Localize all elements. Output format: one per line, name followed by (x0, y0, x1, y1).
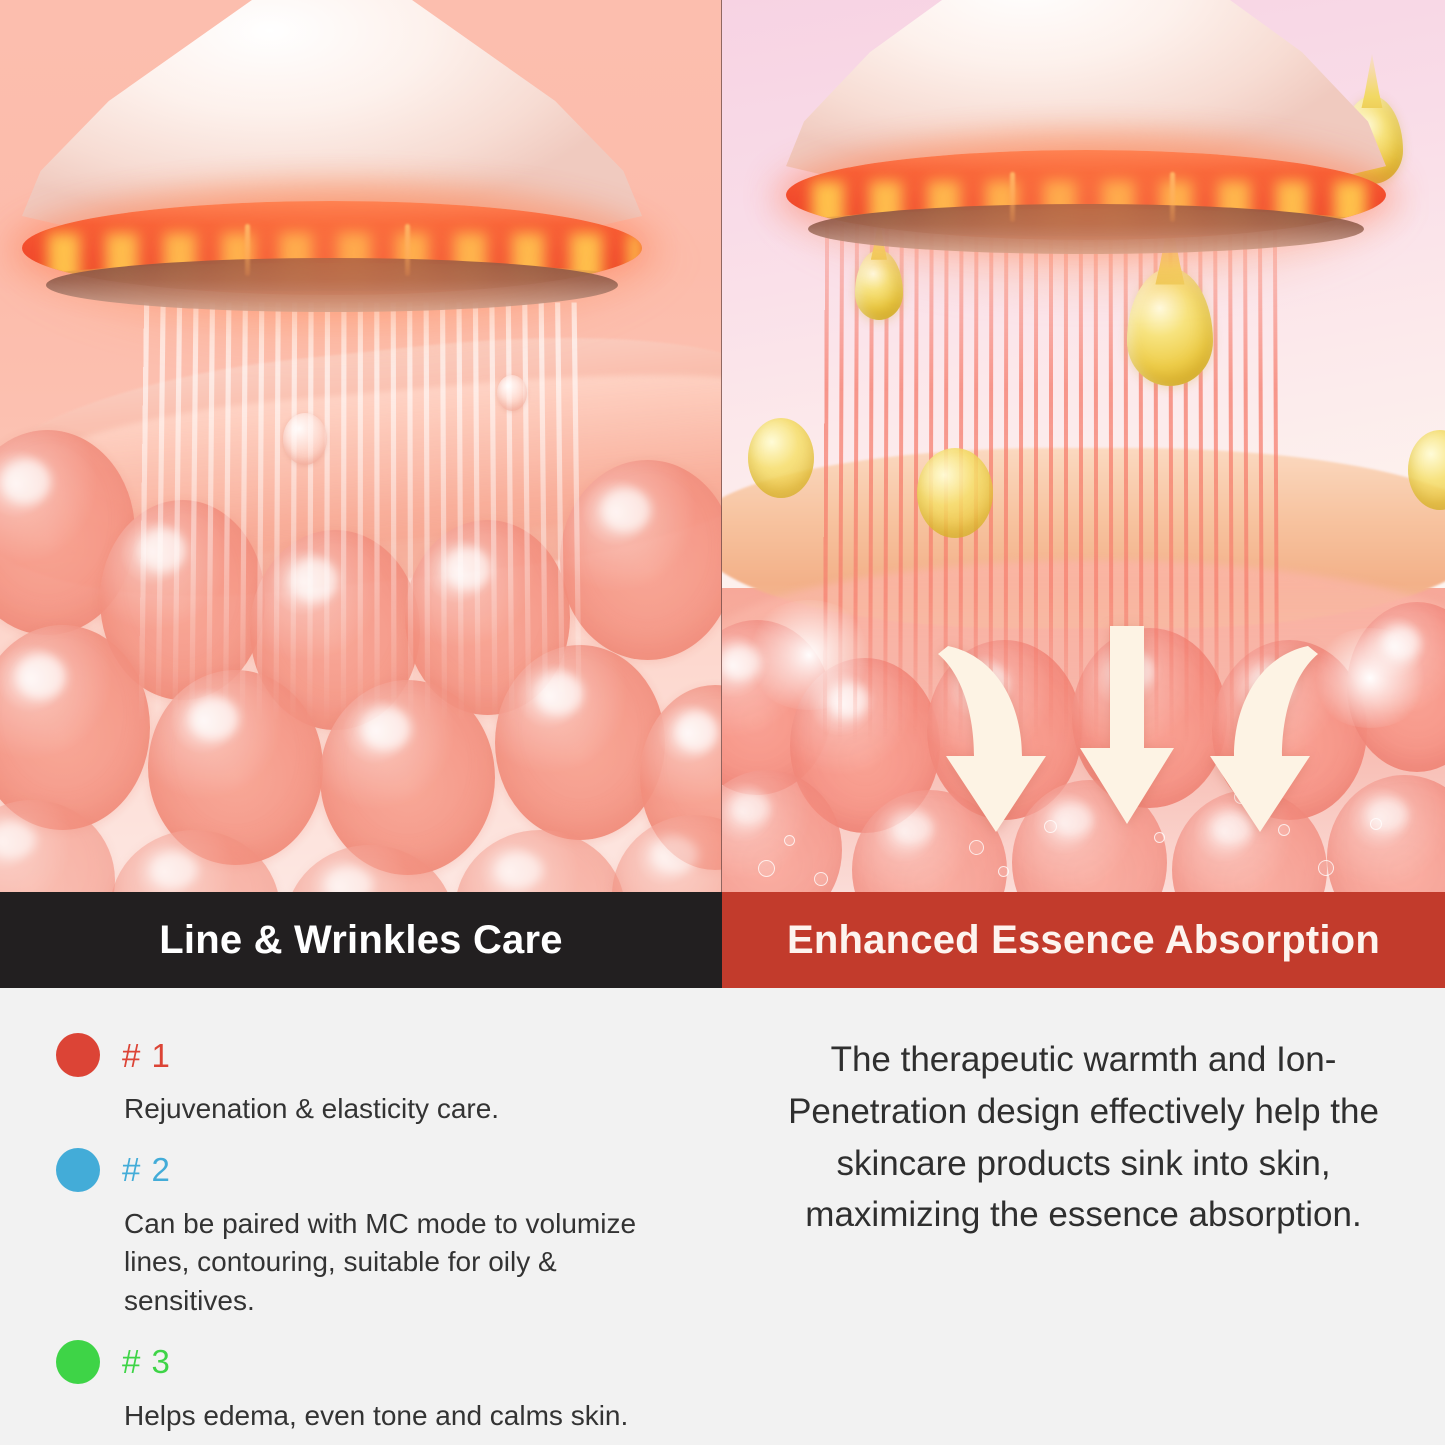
led-device-right (722, 0, 1445, 258)
absorption-arrow-right (1202, 640, 1322, 840)
left-banner-title: Line & Wrinkles Care (159, 920, 562, 960)
light-ray-beam (139, 303, 592, 723)
feature-number: # 2 (122, 1153, 171, 1186)
feature-description: Can be paired with MC mode to volumize l… (124, 1205, 692, 1321)
water-droplet (283, 413, 327, 465)
bullet-dot-icon (56, 1148, 100, 1192)
feature-heading: # 1 (56, 1032, 692, 1078)
panel-divider (721, 0, 722, 892)
sparkle-glint (744, 600, 874, 710)
feature-heading: # 2 (56, 1147, 692, 1193)
description-column: The therapeutic warmth and Ion-Penetrati… (722, 988, 1445, 1445)
led-glow (0, 174, 690, 364)
absorption-arrow-left (934, 640, 1054, 840)
content-row: # 1 Rejuvenation & elasticity care. # 2 … (0, 988, 1445, 1445)
collagen-bubble (455, 830, 625, 892)
absorption-description: The therapeutic warmth and Ion-Penetrati… (774, 1034, 1393, 1241)
feature-heading: # 3 (56, 1339, 692, 1385)
right-banner-title: Enhanced Essence Absorption (787, 920, 1380, 960)
absorption-arrow-center (1072, 622, 1182, 832)
banner-row: Line & Wrinkles Care Enhanced Essence Ab… (0, 892, 1445, 988)
essence-oil-bubble (917, 448, 993, 538)
product-feature-graphic: Line & Wrinkles Care Enhanced Essence Ab… (0, 0, 1445, 1445)
sparkle-glint (1310, 628, 1430, 728)
illustration-row (0, 0, 1445, 892)
right-banner: Enhanced Essence Absorption (722, 892, 1445, 988)
bullet-dot-icon (56, 1340, 100, 1384)
essence-oil-bubble (748, 418, 814, 498)
feature-item: # 3 Helps edema, even tone and calms ski… (56, 1339, 692, 1436)
led-device-left (0, 0, 722, 316)
feature-list: # 1 Rejuvenation & elasticity care. # 2 … (0, 988, 722, 1445)
left-banner: Line & Wrinkles Care (0, 892, 722, 988)
water-droplet (497, 375, 527, 411)
feature-item: # 2 Can be paired with MC mode to volumi… (56, 1147, 692, 1321)
left-illustration-panel (0, 0, 722, 892)
led-glow (758, 124, 1418, 310)
right-illustration-panel (722, 0, 1445, 892)
feature-number: # 1 (122, 1039, 171, 1072)
feature-description: Helps edema, even tone and calms skin. (124, 1397, 692, 1436)
feature-description: Rejuvenation & elasticity care. (124, 1090, 692, 1129)
bullet-dot-icon (56, 1033, 100, 1077)
feature-item: # 1 Rejuvenation & elasticity care. (56, 1032, 692, 1129)
collagen-bubble (612, 815, 722, 892)
feature-number: # 3 (122, 1345, 171, 1378)
